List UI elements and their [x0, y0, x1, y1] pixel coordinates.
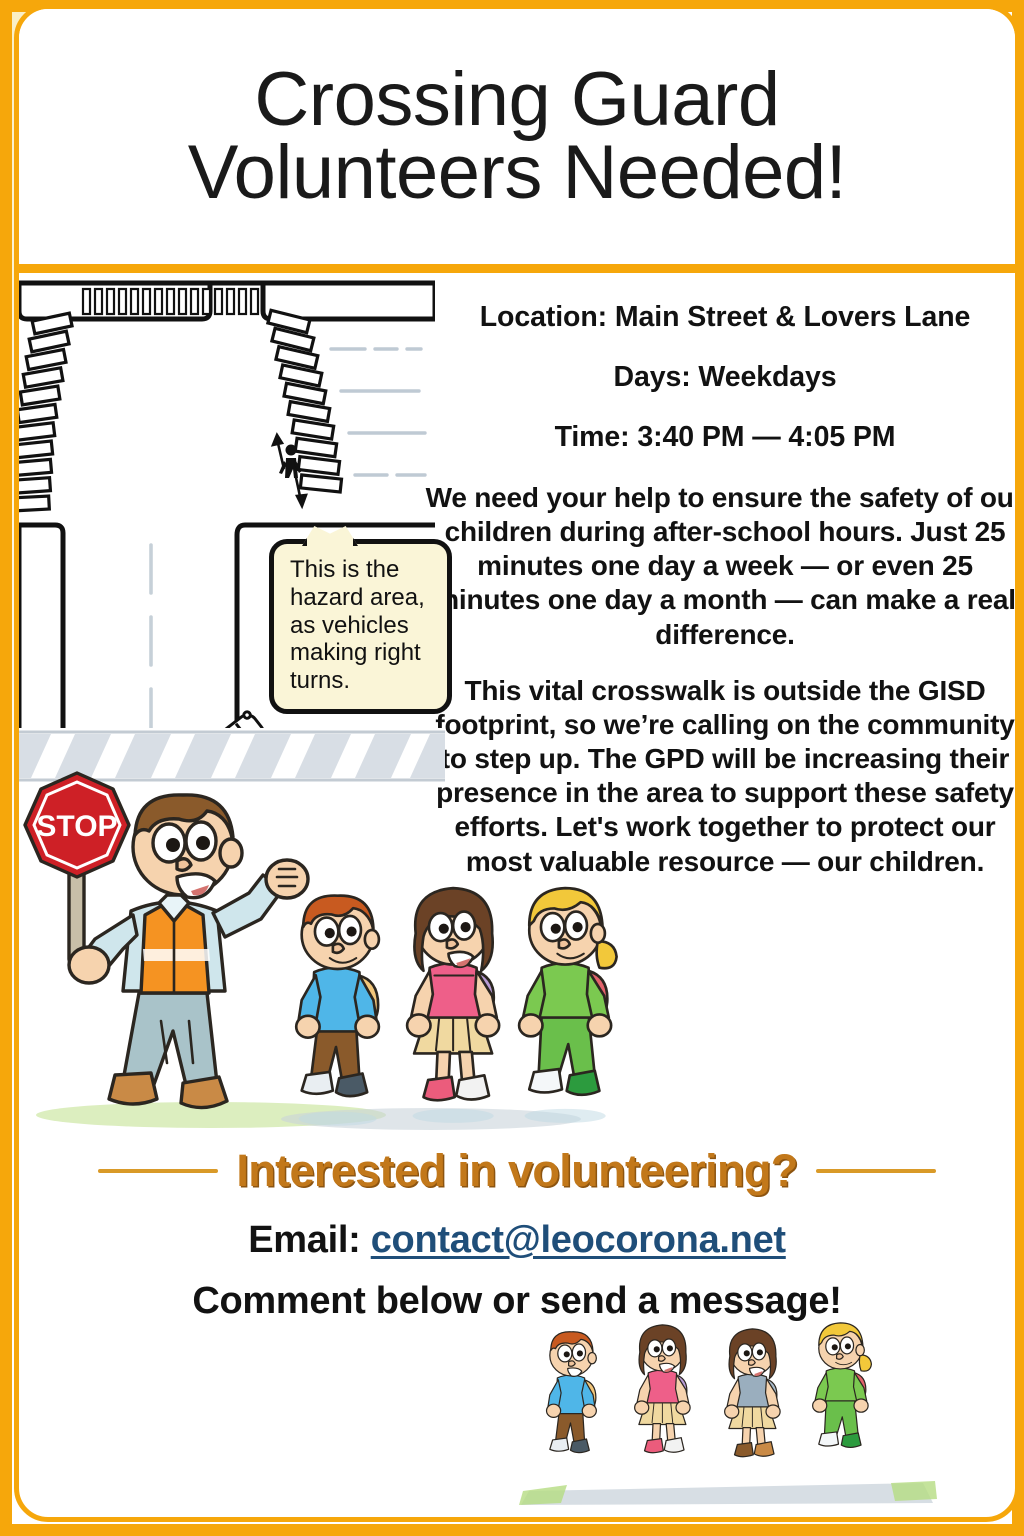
hazard-callout: This is the hazard area, as vehicles mak… [269, 539, 452, 714]
illustration-guard-and-children: .ol{stroke:#2B2620;stroke-width:3.4;stro… [14, 743, 651, 1143]
flyer-body: This is the hazard area, as vehicles mak… [19, 273, 1015, 1517]
cta-rule-left [98, 1169, 218, 1173]
cta-section: Interested in volunteering? Email: conta… [19, 1145, 1015, 1323]
detail-time: Time: 3:40 PM — 4:05 PM [423, 421, 1020, 454]
child-girl-brown-hair-bottom-2 [725, 1329, 780, 1457]
detail-location: Location: Main Street & Lovers Lane [423, 301, 1020, 334]
body-paragraph-1: We need your help to ensure the safety o… [423, 481, 1020, 652]
title-line-2: Volunteers Needed! [188, 137, 847, 210]
callout-text: This is the hazard area, as vehicles mak… [290, 556, 425, 694]
stop-sign-label: STOP [36, 810, 117, 843]
flyer-panel: Crossing Guard Volunteers Needed! [14, 4, 1020, 1522]
lane-dashes-right [331, 349, 425, 475]
guard-children-svg: .ol{stroke:#2B2620;stroke-width:3.4;stro… [14, 743, 651, 1143]
child-girl-brown-hair [407, 888, 499, 1123]
crosswalk-stripes-right [268, 310, 342, 492]
flyer-root: Crossing Guard Volunteers Needed! [0, 0, 1024, 1536]
child-boy-red-hair-bottom [547, 1332, 597, 1453]
cta-heading: Interested in volunteering? [236, 1145, 797, 1197]
email-row: Email: contact@leocorona.net [19, 1219, 1015, 1262]
crosswalk-stripes-top [83, 289, 258, 314]
child-girl-brown-hair-bottom-1 [635, 1325, 690, 1453]
crosswalk-stripes-left [14, 313, 72, 511]
cta-rule-right [816, 1169, 936, 1173]
page-title: Crossing Guard Volunteers Needed! [170, 64, 865, 210]
children-bottom-svg: .b-ol{stroke:#2B2620;stroke-width:2.6;st… [519, 1313, 939, 1513]
child-girl-blonde-hair [519, 888, 617, 1123]
title-line-1: Crossing Guard [188, 64, 847, 137]
cta-heading-row: Interested in volunteering? [19, 1145, 1015, 1197]
child-girl-blonde-hair-bottom [813, 1323, 872, 1448]
flyer-header: Crossing Guard Volunteers Needed! [19, 9, 1015, 273]
child-boy-red-hair [296, 896, 379, 1126]
curb-outline-bottom-left [19, 525, 63, 743]
email-link[interactable]: contact@leocorona.net [371, 1219, 786, 1261]
detail-days: Days: Weekdays [423, 361, 1020, 394]
illustration-children-bottom: .b-ol{stroke:#2B2620;stroke-width:2.6;st… [519, 1313, 939, 1513]
email-label: Email: [248, 1219, 371, 1261]
